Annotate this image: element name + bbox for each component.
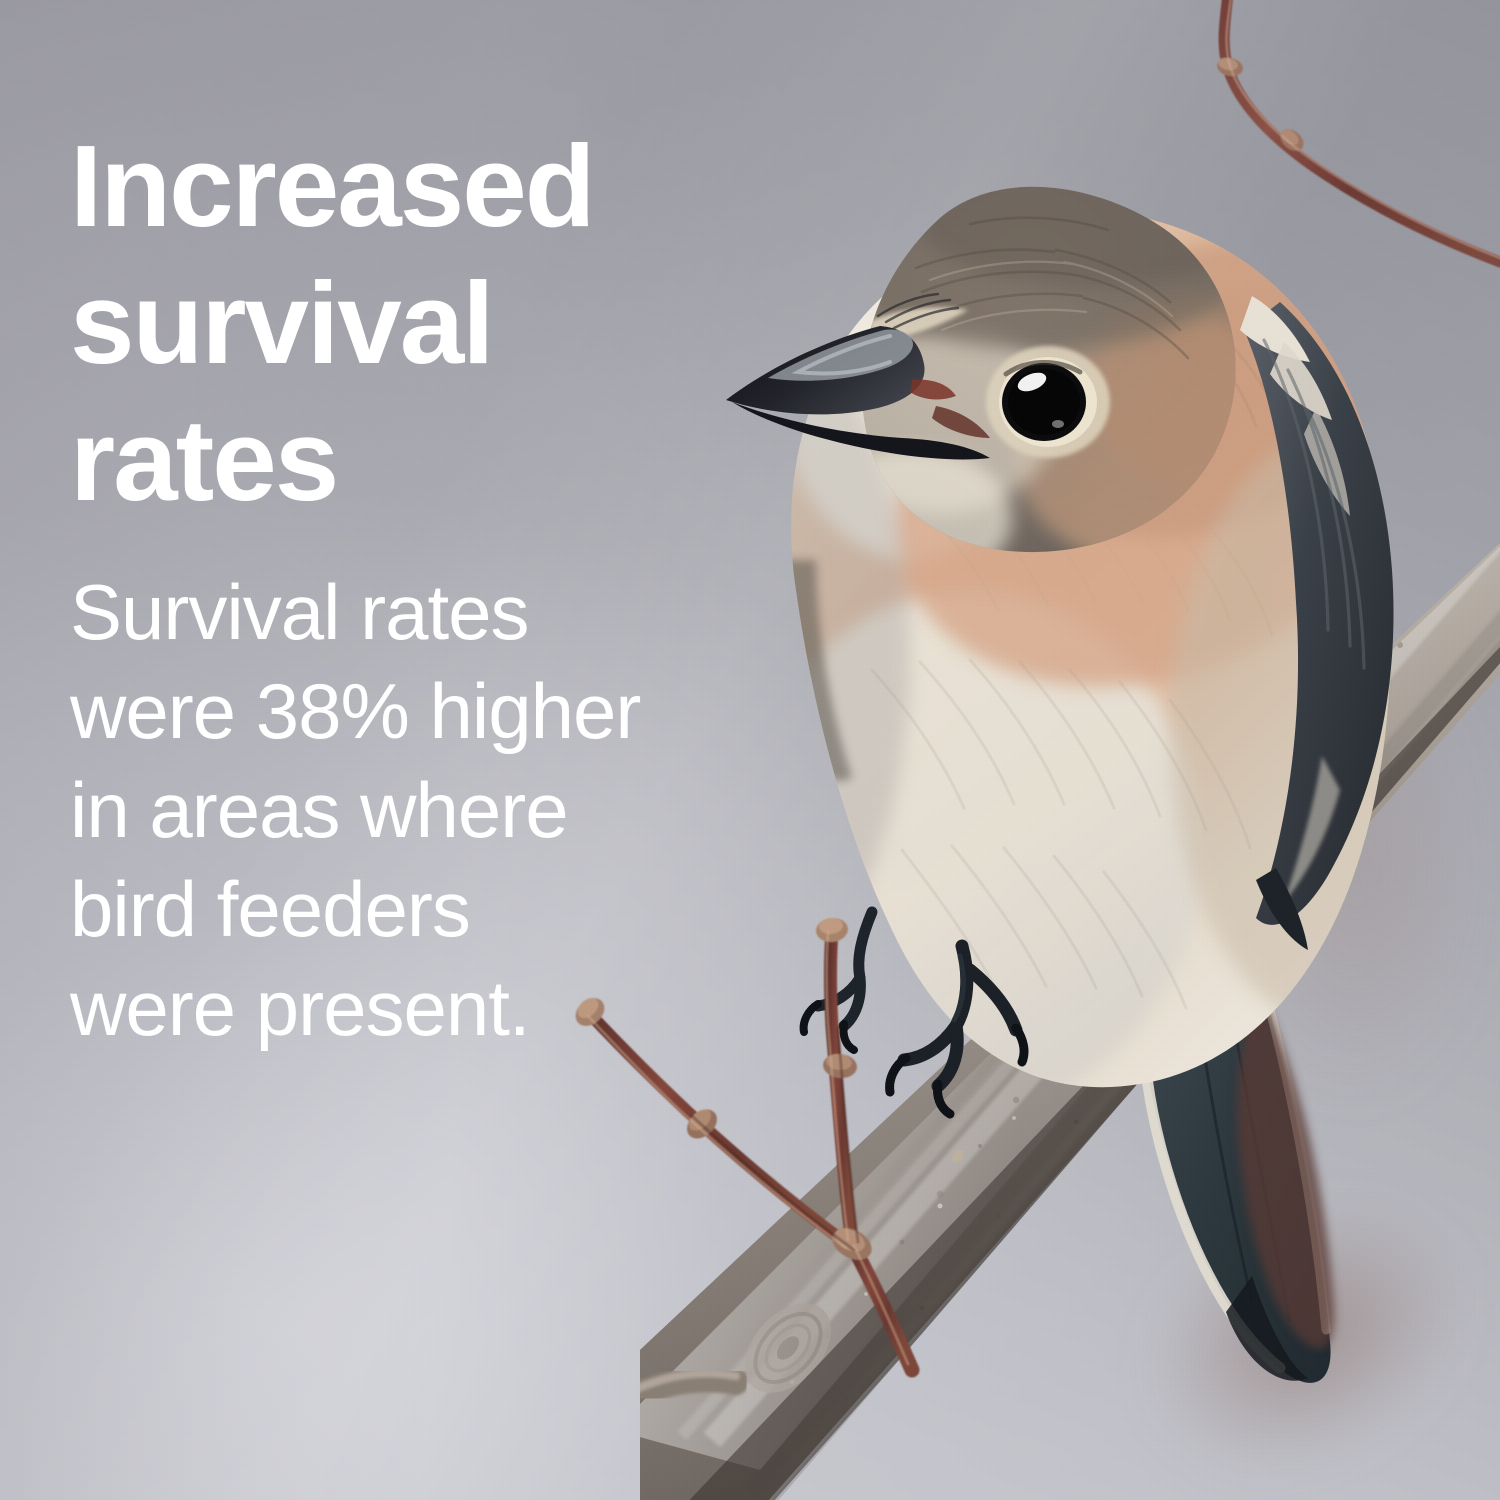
body-line-1: Survival rates: [70, 563, 730, 662]
body-line-4: bird feeders: [70, 860, 730, 959]
poster-canvas: Increased survival rates Survival rates …: [0, 0, 1500, 1500]
body-line-2: were 38% higher: [70, 662, 730, 761]
headline-line-1: Increased: [70, 118, 730, 255]
headline-line-3: rates: [70, 392, 730, 529]
body-text: Survival rates were 38% higher in areas …: [70, 563, 730, 1058]
headline-line-2: survival: [70, 255, 730, 392]
body-line-5: were present.: [70, 959, 730, 1058]
body-line-3: in areas where: [70, 761, 730, 860]
headline: Increased survival rates: [70, 118, 730, 529]
text-overlay: Increased survival rates Survival rates …: [70, 118, 730, 1058]
